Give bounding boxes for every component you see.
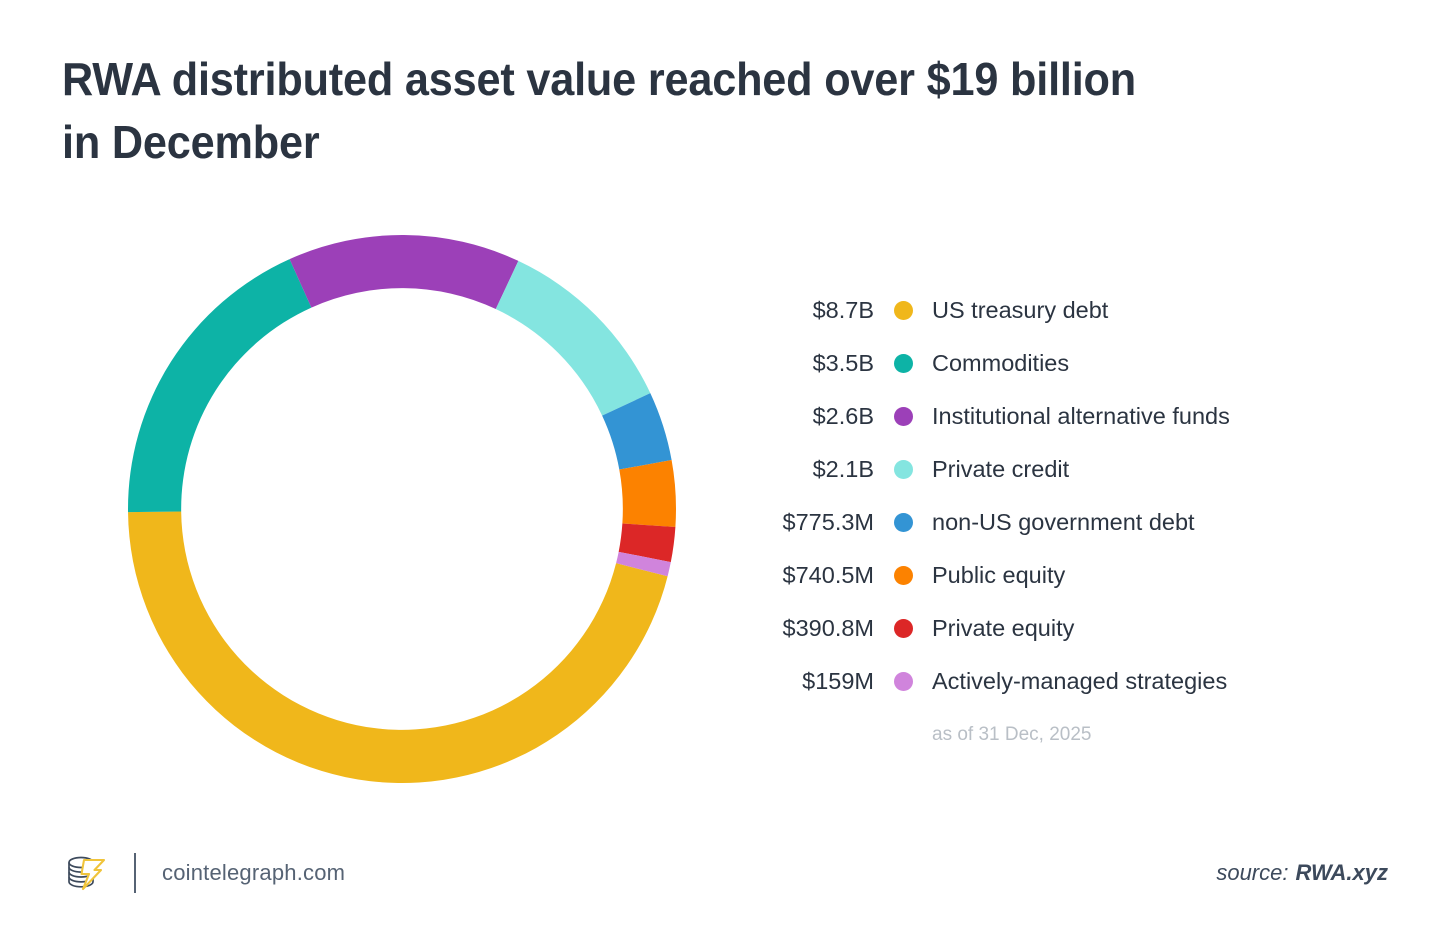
legend-item-value: $2.1B	[746, 456, 874, 483]
donut-slice	[290, 235, 519, 309]
legend-swatch-cell	[874, 619, 932, 638]
legend-item-value: $775.3M	[746, 509, 874, 536]
legend-item-value: $740.5M	[746, 562, 874, 589]
footer-divider	[134, 853, 136, 893]
legend-item: $159MActively-managed strategies	[746, 655, 1386, 708]
legend-item-value: $159M	[746, 668, 874, 695]
footer: cointelegraph.com source: RWA.xyz	[0, 838, 1450, 908]
legend-color-swatch-icon	[894, 460, 913, 479]
cointelegraph-logo-icon	[64, 851, 108, 895]
legend-color-swatch-icon	[894, 407, 913, 426]
legend-item-label: Public equity	[932, 562, 1065, 589]
legend-item-label: Institutional alternative funds	[932, 403, 1230, 430]
legend-item-value: $3.5B	[746, 350, 874, 377]
page-title: RWA distributed asset value reached over…	[62, 48, 1275, 175]
legend-color-swatch-icon	[894, 301, 913, 320]
footer-brand: cointelegraph.com	[64, 838, 345, 908]
legend-item-label: US treasury debt	[932, 297, 1108, 324]
donut-chart	[114, 221, 690, 797]
legend-item: $2.1BPrivate credit	[746, 443, 1386, 496]
legend-item-value: $8.7B	[746, 297, 874, 324]
legend-item-value: $2.6B	[746, 403, 874, 430]
legend-item-label: Commodities	[932, 350, 1069, 377]
legend-item: $390.8MPrivate equity	[746, 602, 1386, 655]
legend-asof-note: as of 31 Dec, 2025	[932, 724, 1386, 746]
legend-item: $8.7BUS treasury debt	[746, 284, 1386, 337]
legend-color-swatch-icon	[894, 513, 913, 532]
legend-swatch-cell	[874, 513, 932, 532]
legend-color-swatch-icon	[894, 354, 913, 373]
infographic-page: RWA distributed asset value reached over…	[0, 0, 1450, 951]
chart-legend: $8.7BUS treasury debt$3.5BCommodities$2.…	[746, 284, 1386, 746]
source-label: source:	[1216, 860, 1288, 886]
legend-item-value: $390.8M	[746, 615, 874, 642]
coin-stack-bolt-icon	[64, 851, 108, 895]
legend-item-label: Private equity	[932, 615, 1074, 642]
legend-item: $3.5BCommodities	[746, 337, 1386, 390]
donut-slice	[128, 259, 311, 512]
source-name: RWA.xyz	[1295, 860, 1388, 886]
legend-item-label: Actively-managed strategies	[932, 668, 1227, 695]
legend-swatch-cell	[874, 354, 932, 373]
legend-swatch-cell	[874, 672, 932, 691]
footer-source: source: RWA.xyz	[1216, 838, 1388, 908]
legend-item: $740.5MPublic equity	[746, 549, 1386, 602]
legend-swatch-cell	[874, 460, 932, 479]
legend-swatch-cell	[874, 407, 932, 426]
donut-chart-svg	[114, 221, 690, 797]
legend-item-label: Private credit	[932, 456, 1069, 483]
legend-color-swatch-icon	[894, 672, 913, 691]
legend-swatch-cell	[874, 301, 932, 320]
legend-swatch-cell	[874, 566, 932, 585]
legend-item-label: non-US government debt	[932, 509, 1195, 536]
legend-item: $775.3Mnon-US government debt	[746, 496, 1386, 549]
donut-slice	[619, 460, 676, 527]
donut-slice	[496, 261, 651, 416]
legend-color-swatch-icon	[894, 566, 913, 585]
donut-slice	[128, 512, 668, 783]
legend-color-swatch-icon	[894, 619, 913, 638]
page-title-block: RWA distributed asset value reached over…	[62, 48, 1352, 175]
footer-site-url: cointelegraph.com	[162, 860, 345, 886]
legend-item: $2.6BInstitutional alternative funds	[746, 390, 1386, 443]
